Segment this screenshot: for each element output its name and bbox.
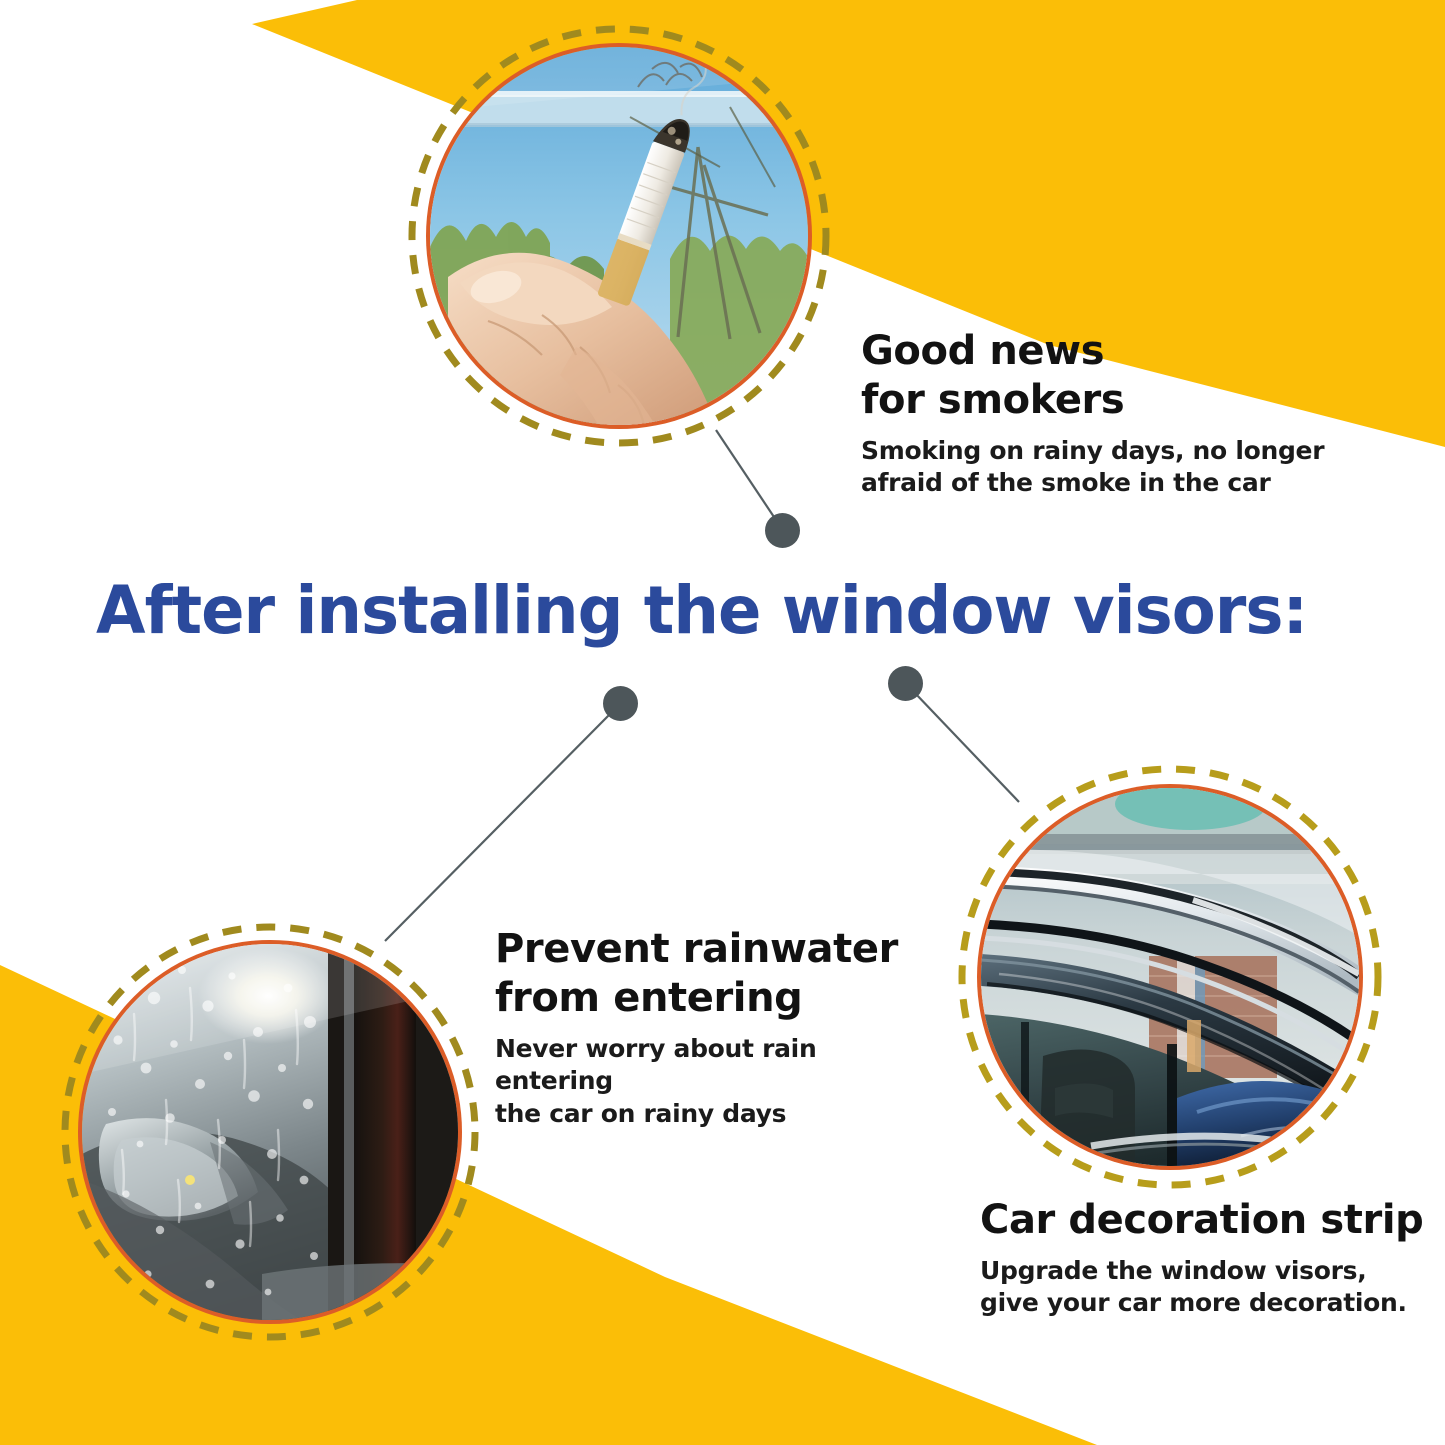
page-title: After installing the window visors: bbox=[96, 578, 1307, 644]
hand-holding-lit-cigarette-photo bbox=[430, 47, 808, 425]
photo-smokers bbox=[430, 47, 808, 425]
feature-text-smokers: Good news for smokers Smoking on rainy d… bbox=[861, 327, 1331, 500]
feature-title-smokers: Good news for smokers bbox=[861, 327, 1331, 425]
feature-text-decoration: Car decoration strip Upgrade the window … bbox=[980, 1196, 1430, 1320]
rain-covered-car-window-photo bbox=[82, 944, 458, 1320]
feature-title-decoration: Car decoration strip bbox=[980, 1196, 1430, 1245]
callout-circle-rainwater bbox=[58, 920, 482, 1344]
leader-line-rainwater bbox=[385, 712, 612, 941]
car-window-visor-installed-photo bbox=[981, 788, 1359, 1166]
callout-circle-decoration bbox=[955, 762, 1385, 1192]
feature-subtitle-rainwater: Never worry about rain entering the car … bbox=[495, 1033, 915, 1131]
infographic-page: After installing the window visors: bbox=[0, 0, 1445, 1445]
photo-rainwater bbox=[82, 944, 458, 1320]
photo-decoration bbox=[981, 788, 1359, 1166]
feature-text-rainwater: Prevent rainwater from entering Never wo… bbox=[495, 925, 915, 1130]
callout-circle-smokers bbox=[405, 22, 833, 450]
connector-dot-rainwater bbox=[603, 686, 638, 721]
feature-title-rainwater: Prevent rainwater from entering bbox=[495, 925, 915, 1023]
connector-dot-decoration bbox=[888, 666, 923, 701]
feature-subtitle-decoration: Upgrade the window visors, give your car… bbox=[980, 1255, 1430, 1320]
feature-subtitle-smokers: Smoking on rainy days, no longer afraid … bbox=[861, 435, 1331, 500]
connector-dot-smokers bbox=[765, 513, 800, 548]
